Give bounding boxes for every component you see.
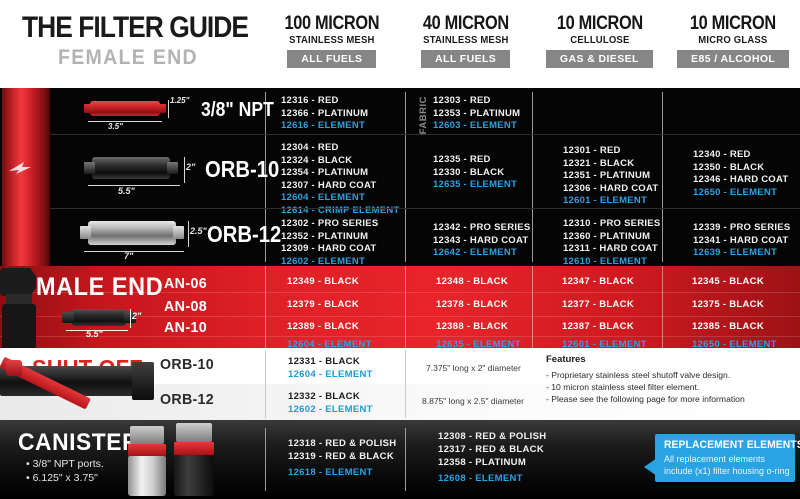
part-code: 12385 - BLACK	[692, 321, 764, 332]
shutoff-valve-end	[132, 362, 154, 400]
part-code: 12316 - RED	[281, 95, 415, 108]
shutoff-size-orb10: ORB-10	[160, 356, 214, 373]
part-code-element: 12616 - ELEMENT	[281, 120, 415, 133]
part-code: 12340 - RED	[693, 149, 800, 162]
part-code-element: 12608 - ELEMENT	[438, 473, 523, 484]
part-code: 12332 - BLACK	[288, 391, 360, 402]
codes-orb10-10-micron-micro-glass: 12340 - RED 12350 - BLACK 12346 - HARD C…	[675, 135, 800, 208]
part-code: 12378 - BLACK	[436, 299, 508, 310]
part-code-element: 12650 - ELEMENT	[693, 187, 800, 200]
filter-image-orb12	[88, 221, 176, 245]
column-type-label: MICRO GLASS	[670, 35, 797, 46]
feature-item: - Please see the following page for more…	[546, 394, 745, 404]
feature-item: - Proprietary stainless steel shutoff va…	[546, 370, 730, 380]
filter-guide-page: THE FILTER GUIDE FEMALE END 100 MICRON S…	[0, 0, 800, 499]
shutoff-dimension-orb10: 7.375" long x 2" diameter	[426, 363, 521, 373]
filter-fitting-left	[84, 162, 95, 174]
dim-diameter-label: 2.5"	[190, 226, 207, 236]
part-code-element: 12602 - ELEMENT	[281, 256, 415, 266]
part-code: 12308 - RED & POLISH	[438, 431, 546, 442]
filter-image-orb10	[92, 157, 170, 179]
column-fuel-badge: ALL FUELS	[421, 50, 510, 68]
part-code: 12310 - PRO SERIES	[563, 218, 675, 231]
column-micron-label: 100 MICRON	[274, 14, 389, 34]
canister-photo-black-head	[176, 423, 212, 442]
column-divider	[532, 266, 533, 348]
dim-line-length	[88, 121, 162, 122]
dim-diameter-label: 1.25"	[170, 96, 189, 105]
canister-photo-polished-band	[128, 444, 166, 456]
part-code: 12335 - RED	[433, 154, 545, 167]
column-fuel-badge: ALL FUELS	[287, 50, 376, 68]
column-micron-label: 10 MICRON	[542, 14, 657, 34]
part-code: 12319 - RED & BLACK	[288, 451, 394, 462]
male-end-section: MALE END AN-06 AN-08 AN-10 5.5" 2" 12349…	[0, 266, 800, 348]
part-code-element: 12604 - ELEMENT	[288, 369, 373, 380]
part-code: 12350 - BLACK	[693, 162, 800, 175]
part-code-element: 12635 - ELEMENT	[433, 179, 545, 192]
part-code: 12317 - RED & BLACK	[438, 444, 544, 455]
part-code: 12318 - RED & POLISH	[288, 438, 396, 449]
codes-npt-40-micron: FABRIC 12303 - RED 12353 - PLATINUM 1260…	[415, 88, 545, 134]
column-header-100-micron: 100 MICRON STAINLESS MESH ALL FUELS	[265, 0, 399, 88]
part-code: 12324 - BLACK	[281, 155, 415, 168]
page-title: THE FILTER GUIDE	[22, 11, 248, 45]
part-code: 12379 - BLACK	[287, 299, 359, 310]
part-code: 12309 - HARD COAT	[281, 243, 415, 256]
row-label-npt: 3/8" NPT	[201, 99, 274, 122]
part-code-element: 12603 - ELEMENT	[433, 120, 545, 133]
column-micron-label: 10 MICRON	[676, 14, 791, 34]
shutoff-dimension-orb12: 8.875" long x 2.5" diameter	[422, 396, 524, 406]
part-code: 12347 - BLACK	[562, 276, 634, 287]
dim-length-label: 5.5"	[118, 186, 135, 196]
part-code-element: 12642 - ELEMENT	[433, 247, 545, 260]
part-code: 12342 - PRO SERIES	[433, 222, 545, 235]
part-code-element: 12635 - ELEMENT	[436, 339, 521, 348]
part-code-element: 12610 - ELEMENT	[563, 256, 675, 266]
column-divider	[405, 266, 406, 348]
filter-fitting-left	[80, 226, 91, 239]
filter-image-npt	[90, 101, 160, 116]
part-code: 12375 - BLACK	[692, 299, 764, 310]
part-code: 12304 - RED	[281, 142, 415, 155]
part-code: 12303 - RED	[433, 95, 545, 108]
part-code: 12341 - HARD COAT	[693, 235, 800, 248]
column-fuel-badge: E85 / ALCOHOL	[677, 50, 789, 68]
table-row: 5.5" 2" ORB-10 12304 - RED 12324 - BLACK…	[0, 135, 800, 208]
column-divider	[405, 428, 406, 491]
part-code: 12307 - HARD COAT	[281, 180, 415, 193]
dim-diameter-label: 2"	[186, 162, 195, 172]
part-code-element: 12604 - ELEMENT	[281, 192, 415, 205]
canister-photo-polished-head	[130, 426, 164, 444]
section-title-female-end: FEMALE END	[58, 46, 198, 70]
part-code: 12349 - BLACK	[287, 276, 359, 287]
canister-spec: • 3/8" NPT ports.	[26, 458, 104, 470]
canister-photo-polished-body	[128, 456, 166, 496]
table-row: 3.5" 1.25" 3/8" NPT 12316 - RED 12366 - …	[0, 88, 800, 134]
codes-orb10-100-micron: 12304 - RED 12324 - BLACK 12354 - PLATIN…	[265, 135, 415, 208]
dim-line-diameter	[184, 157, 185, 183]
female-end-table: 3.5" 1.25" 3/8" NPT 12316 - RED 12366 - …	[0, 88, 800, 266]
part-code: 12348 - BLACK	[436, 276, 508, 287]
column-divider	[405, 350, 406, 418]
part-code: 12339 - PRO SERIES	[693, 222, 800, 235]
callout-body: All replacement elements include (x1) fi…	[664, 454, 792, 477]
dim-length-label: 3.5"	[108, 122, 123, 131]
column-header-10-micron-cellulose: 10 MICRON CELLULOSE GAS & DIESEL	[533, 0, 667, 88]
filter-image-male	[72, 309, 126, 326]
part-code: 12346 - HARD COAT	[693, 174, 800, 187]
filter-fitting-left	[84, 104, 94, 113]
part-code: 12343 - HARD COAT	[433, 235, 545, 248]
part-code-element: 12601 - ELEMENT	[562, 339, 647, 348]
codes-orb10-10-micron-cellulose: 12301 - RED 12321 - BLACK 12351 - PLATIN…	[545, 135, 675, 208]
part-code: 12358 - PLATINUM	[438, 457, 526, 468]
part-code: 12388 - BLACK	[436, 321, 508, 332]
part-code: 12366 - PLATINUM	[281, 108, 415, 121]
size-label-an06: AN-06	[164, 275, 207, 292]
part-code-element: 12602 - ELEMENT	[288, 404, 373, 415]
fabric-label: FABRIC	[418, 96, 429, 134]
part-code-element: 12650 - ELEMENT	[692, 339, 777, 348]
part-code-element: 12618 - ELEMENT	[288, 467, 373, 478]
codes-npt-10-micron-micro-glass	[675, 88, 800, 134]
canister-spec: • 6.125" x 3.75"	[26, 472, 98, 484]
column-header-40-micron: 40 MICRON STAINLESS MESH ALL FUELS	[399, 0, 533, 88]
column-micron-label: 40 MICRON	[408, 14, 523, 34]
part-code: 12306 - HARD COAT	[563, 183, 675, 196]
column-type-label: STAINLESS MESH	[268, 35, 395, 46]
codes-npt-100-micron: 12316 - RED 12366 - PLATINUM 12616 - ELE…	[265, 88, 415, 134]
title-area: THE FILTER GUIDE FEMALE END	[0, 0, 265, 88]
shutoff-size-orb12: ORB-12	[160, 391, 214, 408]
filter-fitting-right	[167, 162, 178, 174]
column-headers: 100 MICRON STAINLESS MESH ALL FUELS 40 M…	[265, 0, 800, 88]
codes-orb12-10-micron-micro-glass: 12339 - PRO SERIES 12341 - HARD COAT 126…	[675, 209, 800, 266]
codes-orb12-100-micron: 12302 - PRO SERIES 12352 - PLATINUM 1230…	[265, 209, 415, 266]
part-code: 12321 - BLACK	[563, 158, 675, 171]
part-code: 12351 - PLATINUM	[563, 170, 675, 183]
part-code: 12302 - PRO SERIES	[281, 218, 415, 231]
column-divider	[265, 350, 266, 418]
part-code: 12389 - BLACK	[287, 321, 359, 332]
dim-length-label: 5.5"	[86, 329, 103, 339]
dim-length-label: 7"	[124, 251, 133, 261]
part-code-element: 12601 - ELEMENT	[563, 195, 675, 208]
codes-npt-10-micron-cellulose	[545, 88, 675, 134]
canister-photo-black-body	[174, 455, 214, 496]
brand-logo-icon	[8, 160, 34, 176]
an-fitting-photo	[0, 266, 58, 348]
part-code: 12345 - BLACK	[692, 276, 764, 287]
dim-line-diameter	[188, 221, 189, 247]
column-divider	[265, 428, 266, 491]
filter-fitting-right	[173, 226, 184, 239]
dim-diameter-label: 2"	[132, 311, 141, 321]
part-code: 12330 - BLACK	[433, 167, 545, 180]
dim-line-diameter	[130, 309, 131, 328]
feature-item: - 10 micron stainless steel filter eleme…	[546, 382, 699, 392]
size-label-an10: AN-10	[164, 319, 207, 336]
part-code: 12377 - BLACK	[562, 299, 634, 310]
shutoff-lever-pivot	[6, 360, 22, 376]
part-code-element: 12639 - ELEMENT	[693, 247, 800, 260]
table-row: 7" 2.5" ORB-12 12302 - PRO SERIES 12352 …	[0, 209, 800, 266]
part-code: 12360 - PLATINUM	[563, 231, 675, 244]
canister-photo-black-band	[174, 442, 214, 455]
codes-orb12-10-micron-cellulose: 12310 - PRO SERIES 12360 - PLATINUM 1231…	[545, 209, 675, 266]
part-code: 12331 - BLACK	[288, 356, 360, 367]
section-title-canister: CANISTER	[18, 429, 139, 457]
part-code: 12353 - PLATINUM	[433, 108, 545, 121]
size-label-an08: AN-08	[164, 298, 207, 315]
part-code-element: 12604 - ELEMENT	[287, 339, 372, 348]
part-code: 12354 - PLATINUM	[281, 167, 415, 180]
column-header-10-micron-micro-glass: 10 MICRON MICRO GLASS E85 / ALCOHOL	[666, 0, 800, 88]
row-separator	[0, 336, 800, 337]
callout-title: REPLACEMENT ELEMENTS	[664, 439, 800, 451]
part-code: 12311 - HARD COAT	[563, 243, 675, 256]
part-code: 12387 - BLACK	[562, 321, 634, 332]
part-code: 12301 - RED	[563, 145, 675, 158]
dim-line-diameter	[168, 100, 169, 118]
column-type-label: STAINLESS MESH	[402, 35, 529, 46]
part-code: 12352 - PLATINUM	[281, 231, 415, 244]
codes-orb10-40-micron: 12335 - RED 12330 - BLACK 12635 - ELEMEN…	[415, 135, 545, 208]
column-divider	[662, 266, 663, 348]
filter-fitting-left	[62, 312, 74, 323]
replacement-elements-callout: REPLACEMENT ELEMENTS All replacement ele…	[655, 434, 795, 482]
filter-fitting-right	[156, 104, 166, 113]
column-divider	[265, 266, 266, 348]
column-type-label: CELLULOSE	[536, 35, 663, 46]
dim-line-length	[84, 251, 184, 252]
features-heading: Features	[546, 354, 586, 365]
codes-orb12-40-micron: 12342 - PRO SERIES 12343 - HARD COAT 126…	[415, 209, 545, 266]
column-fuel-badge: GAS & DIESEL	[546, 50, 653, 68]
